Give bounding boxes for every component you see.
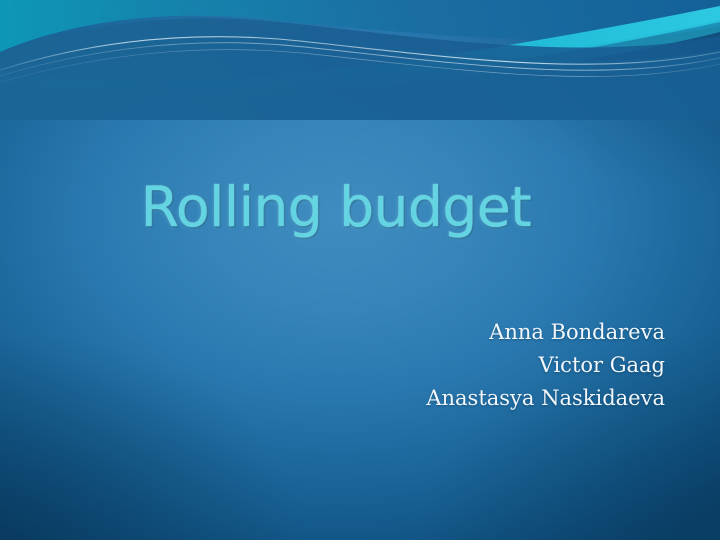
- author-line-1: Anna Bondareva: [0, 316, 665, 349]
- slide-title: Rolling budget: [141, 178, 532, 236]
- author-line-2: Victor Gaag: [0, 349, 665, 382]
- title-slide: Rolling budget Anna Bondareva Victor Gaa…: [0, 0, 720, 540]
- top-wave-ribbon-decoration: [0, 0, 720, 120]
- author-line-3: Anastasya Naskidaeva: [0, 382, 665, 415]
- slide-title-container: Rolling budget: [0, 178, 696, 236]
- slide-subtitle-container: Anna Bondareva Victor Gaag Anastasya Nas…: [0, 316, 665, 415]
